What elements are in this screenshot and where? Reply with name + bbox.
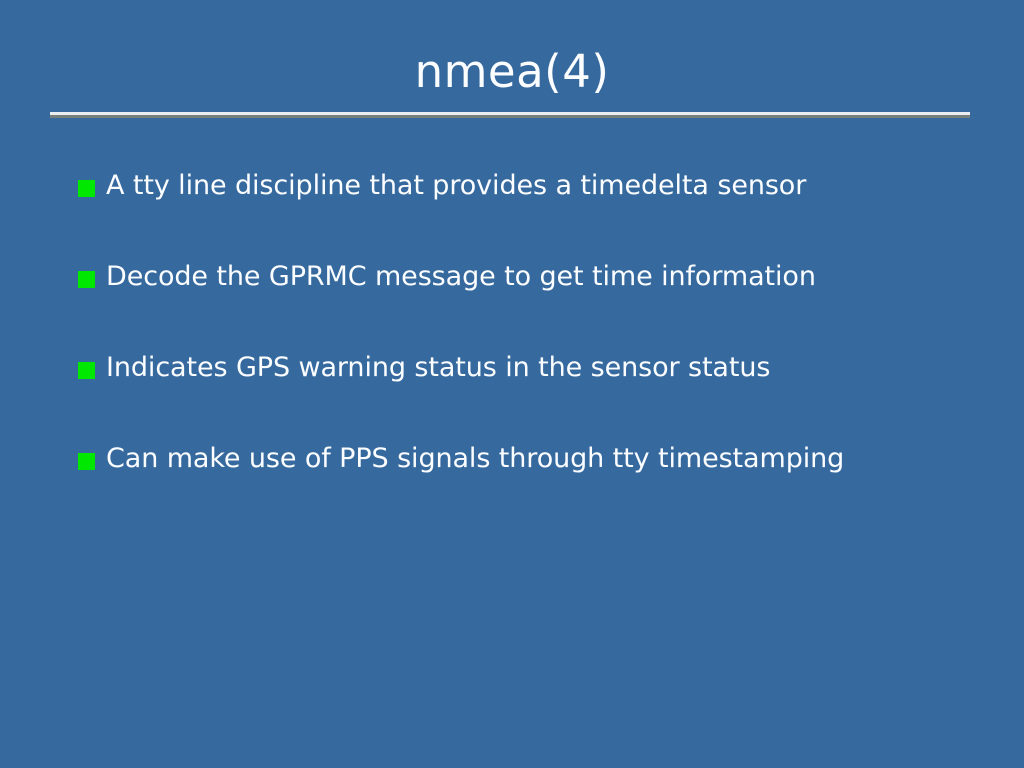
presentation-slide: nmea(4) A tty line discipline that provi…	[0, 0, 1024, 768]
green-square-bullet-icon	[78, 271, 95, 288]
title-divider-rule	[50, 112, 970, 117]
bullet-list: A tty line discipline that provides a ti…	[78, 166, 978, 530]
list-item: A tty line discipline that provides a ti…	[78, 166, 978, 257]
bullet-item-label: Indicates GPS warning status in the sens…	[106, 348, 978, 388]
green-square-bullet-icon	[78, 453, 95, 470]
list-item: Decode the GPRMC message to get time inf…	[78, 257, 978, 348]
divider-shadow-line	[50, 115, 970, 118]
bullet-item-label: Can make use of PPS signals through tty …	[106, 439, 978, 479]
list-item: Indicates GPS warning status in the sens…	[78, 348, 978, 439]
green-square-bullet-icon	[78, 180, 95, 197]
bullet-item-label: Decode the GPRMC message to get time inf…	[106, 257, 978, 297]
green-square-bullet-icon	[78, 362, 95, 379]
slide-title: nmea(4)	[0, 44, 1024, 100]
list-item: Can make use of PPS signals through tty …	[78, 439, 978, 530]
bullet-item-label: A tty line discipline that provides a ti…	[106, 166, 978, 206]
